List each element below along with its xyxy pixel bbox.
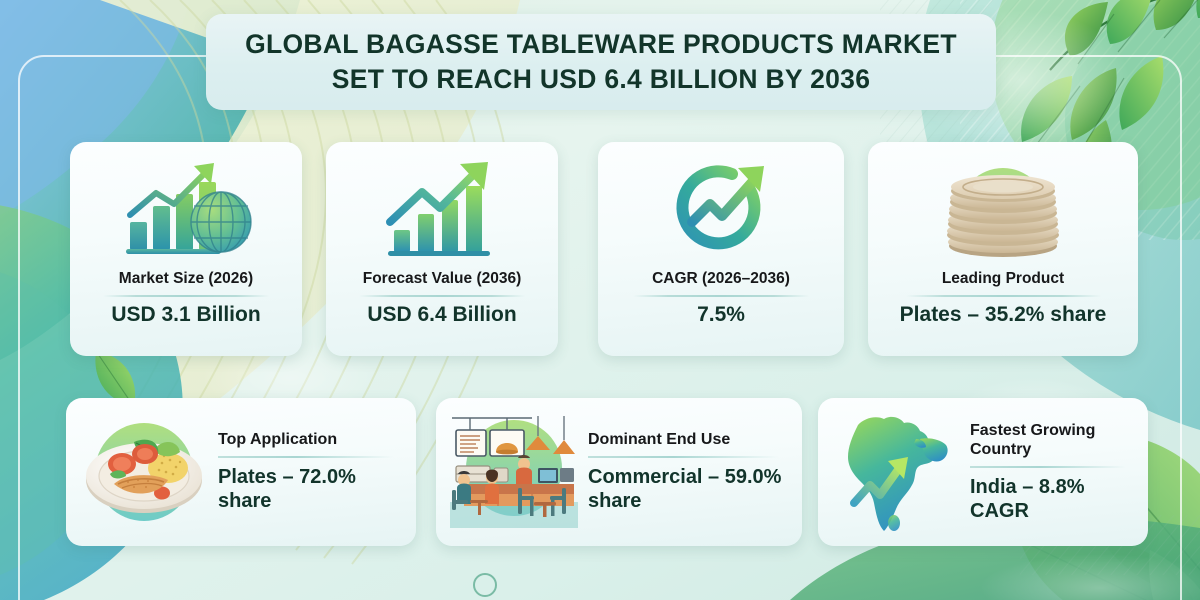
detail-card-top-application: Top Application Plates – 72.0% share <box>66 398 416 546</box>
circular-growth-arrow-icon <box>668 156 774 268</box>
kpi-value: 7.5% <box>697 303 745 327</box>
detail-card-end-use: Dominant End Use Commercial – 59.0% shar… <box>436 398 802 546</box>
page-title-line-1: GLOBAL BAGASSE TABLEWARE PRODUCTS MARKET <box>245 29 957 60</box>
divider <box>633 295 809 297</box>
divider <box>218 456 393 458</box>
detail-value: Commercial – 59.0% share <box>588 465 786 514</box>
bar-chart-globe-icon <box>116 156 256 268</box>
divider <box>359 295 524 297</box>
divider <box>970 466 1126 468</box>
india-map-growth-arrow-icon <box>828 409 964 535</box>
divider <box>588 456 778 458</box>
page-title-banner: GLOBAL BAGASSE TABLEWARE PRODUCTS MARKET… <box>206 14 996 110</box>
kpi-label: Forecast Value (2036) <box>363 270 522 288</box>
kpi-card-leading-product: Leading Product Plates – 35.2% share <box>868 142 1138 356</box>
detail-value: Plates – 72.0% share <box>218 465 400 514</box>
kpi-label: CAGR (2026–2036) <box>652 270 790 288</box>
detail-value: India – 8.8% CAGR <box>970 475 1132 524</box>
kpi-value: USD 3.1 Billion <box>111 303 260 327</box>
page-title-line-2: SET TO REACH USD 6.4 BILLION BY 2036 <box>332 64 870 95</box>
plate-of-food-icon <box>76 409 212 535</box>
kpi-value: Plates – 35.2% share <box>900 303 1107 327</box>
kpi-label: Market Size (2026) <box>119 270 253 288</box>
divider <box>906 295 1101 297</box>
divider <box>103 295 268 297</box>
stacked-plates-icon <box>928 156 1078 268</box>
detail-label: Fastest Growing Country <box>970 421 1132 459</box>
detail-label: Dominant End Use <box>588 430 786 449</box>
detail-card-fastest-growing-country: Fastest Growing Country India – 8.8% CAG… <box>818 398 1148 546</box>
detail-label: Top Application <box>218 430 400 449</box>
kpi-value: USD 6.4 Billion <box>367 303 516 327</box>
kpi-card-cagr: CAGR (2026–2036) 7.5% <box>598 142 844 356</box>
kpi-label: Leading Product <box>942 270 1064 288</box>
restaurant-counter-icon <box>446 409 582 535</box>
growth-bar-chart-arrow-icon <box>378 156 506 268</box>
kpi-card-forecast-value: Forecast Value (2036) USD 6.4 Billion <box>326 142 558 356</box>
kpi-card-market-size: Market Size (2026) USD 3.1 Billion <box>70 142 302 356</box>
